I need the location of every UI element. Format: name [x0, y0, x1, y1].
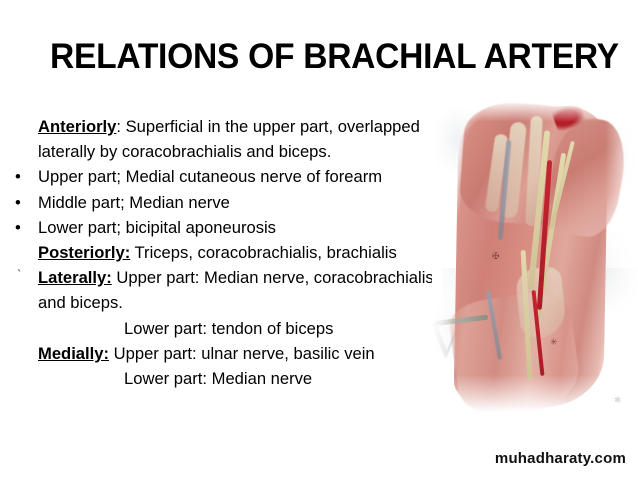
site-watermark: muhadharaty.com: [495, 450, 626, 467]
list-item-lower-part: •Lower part; bicipital aponeurosis: [0, 215, 448, 240]
plate-marker-icon: ✠: [492, 252, 500, 261]
bullet-icon: •: [15, 215, 21, 240]
anatomy-illustration: VIE ✠ ✳ ✱: [432, 100, 638, 412]
text-upper-part: Upper part; Medial cutaneous nerve of fo…: [38, 167, 382, 186]
text-line-laterally-2: and biceps.: [0, 290, 448, 315]
text-line-laterally-lower: Lower part: tendon of biceps: [0, 316, 448, 341]
text-line-medially-1: Medially: Upper part: ulnar nerve, basil…: [0, 341, 448, 366]
page-title: RELATIONS OF BRACHIAL ARTERY: [50, 36, 588, 78]
list-item-upper-part: • Upper part; Medial cutaneous nerve of …: [0, 164, 448, 189]
text-lower-part: Lower part; bicipital aponeurosis: [38, 218, 276, 237]
text-posteriorly: Triceps, coracobrachialis, brachialis: [135, 243, 397, 262]
text-middle-part: Middle part; Median nerve: [38, 193, 230, 212]
text-laterally-lower: Lower part: tendon of biceps: [124, 319, 333, 338]
heading-posteriorly: Posteriorly:: [38, 243, 130, 262]
text-line-laterally-1: `Laterally: Upper part: Median nerve, co…: [0, 265, 448, 290]
slide-canvas: RELATIONS OF BRACHIAL ARTERY Anteriorly:…: [0, 0, 638, 479]
list-item-middle-part: •Middle part; Median nerve: [0, 190, 448, 215]
heading-anteriorly-suffix: :: [116, 117, 125, 136]
text-anteriorly-2: laterally by coracobrachialis and biceps…: [38, 142, 331, 161]
plate-marker-icon: ✳: [550, 338, 558, 347]
bullet-icon: •: [15, 190, 21, 215]
text-laterally-2: and biceps.: [38, 293, 123, 312]
text-anteriorly-1: Superficial in the upper part, overlappe…: [126, 117, 420, 136]
heading-medially: Medially:: [38, 344, 109, 363]
text-line-posteriorly: Posteriorly: Triceps, coracobrachialis, …: [0, 240, 448, 265]
plate-marker-icon: ✱: [614, 396, 622, 405]
content-body: Anteriorly: Superficial in the upper par…: [0, 114, 448, 391]
text-medially-lower: Lower part: Median nerve: [124, 369, 312, 388]
text-line-anteriorly-2: laterally by coracobrachialis and biceps…: [0, 139, 448, 164]
stray-tick-mark: `: [17, 262, 21, 287]
text-laterally-1: Upper part: Median nerve, coracobrachial…: [116, 268, 433, 287]
heading-laterally: Laterally:: [38, 268, 112, 287]
text-line-medially-lower: Lower part: Median nerve: [0, 366, 448, 391]
text-medially-1: Upper part: ulnar nerve, basilic vein: [114, 344, 375, 363]
bullet-icon: •: [15, 164, 21, 189]
text-line-anteriorly-1: Anteriorly: Superficial in the upper par…: [0, 114, 448, 139]
heading-anteriorly: Anteriorly: [38, 117, 116, 136]
